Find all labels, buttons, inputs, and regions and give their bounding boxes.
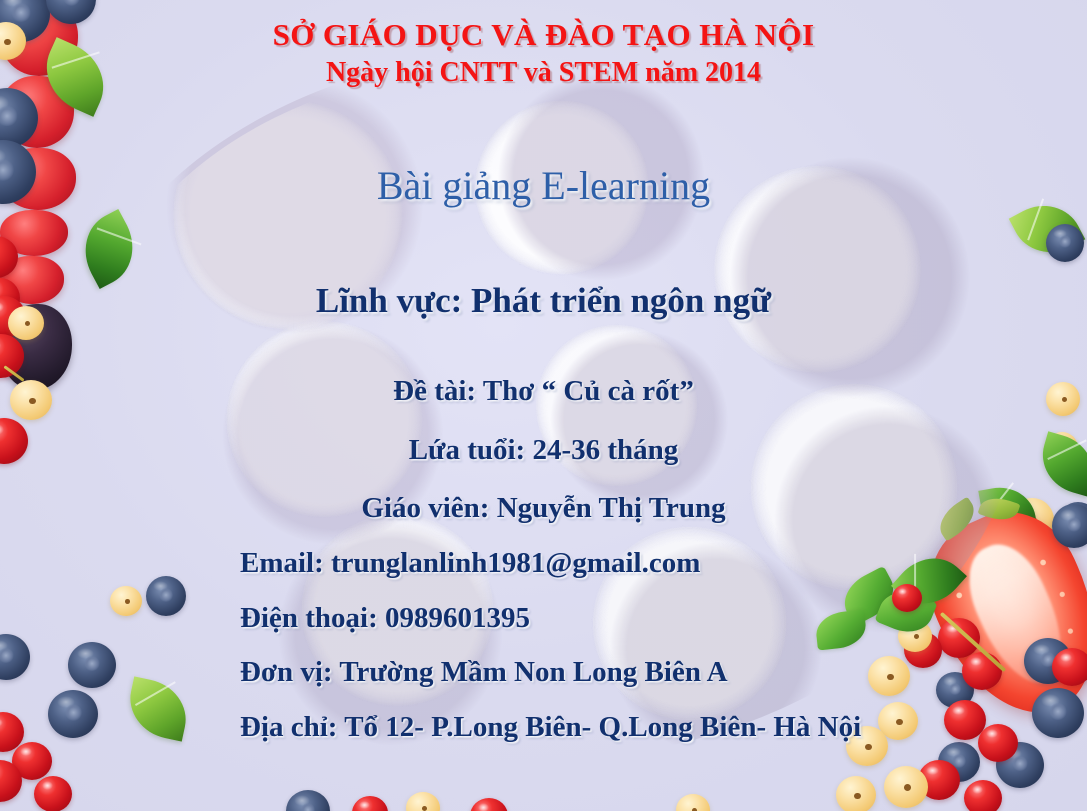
detail-phone: Điện thoại: 0989601395 xyxy=(240,602,530,635)
detail-email: Email: trunglanlinh1981@gmail.com xyxy=(240,547,700,580)
detail-age-range: Lứa tuổi: 24-36 tháng xyxy=(0,434,1087,467)
detail-address: Địa chỉ: Tổ 12- P.Long Biên- Q.Long Biên… xyxy=(240,711,861,744)
organization-title: SỞ GIÁO DỤC VÀ ĐÀO TẠO HÀ NỘI xyxy=(0,18,1087,53)
slide-text-layer: SỞ GIÁO DỤC VÀ ĐÀO TẠO HÀ NỘI Ngày hội C… xyxy=(0,0,1087,811)
detail-teacher: Giáo viên: Nguyễn Thị Trung xyxy=(0,492,1087,525)
subject-field-heading: Lĩnh vực: Phát triển ngôn ngữ xyxy=(0,281,1087,321)
detail-topic: Đề tài: Thơ “ Củ cà rốt” xyxy=(0,375,1087,408)
lesson-type-heading: Bài giảng E-learning xyxy=(0,162,1087,209)
presentation-slide: SỞ GIÁO DỤC VÀ ĐÀO TẠO HÀ NỘI Ngày hội C… xyxy=(0,0,1087,811)
detail-school: Đơn vị: Trường Mầm Non Long Biên A xyxy=(240,656,728,689)
event-subtitle: Ngày hội CNTT và STEM năm 2014 xyxy=(0,57,1087,89)
